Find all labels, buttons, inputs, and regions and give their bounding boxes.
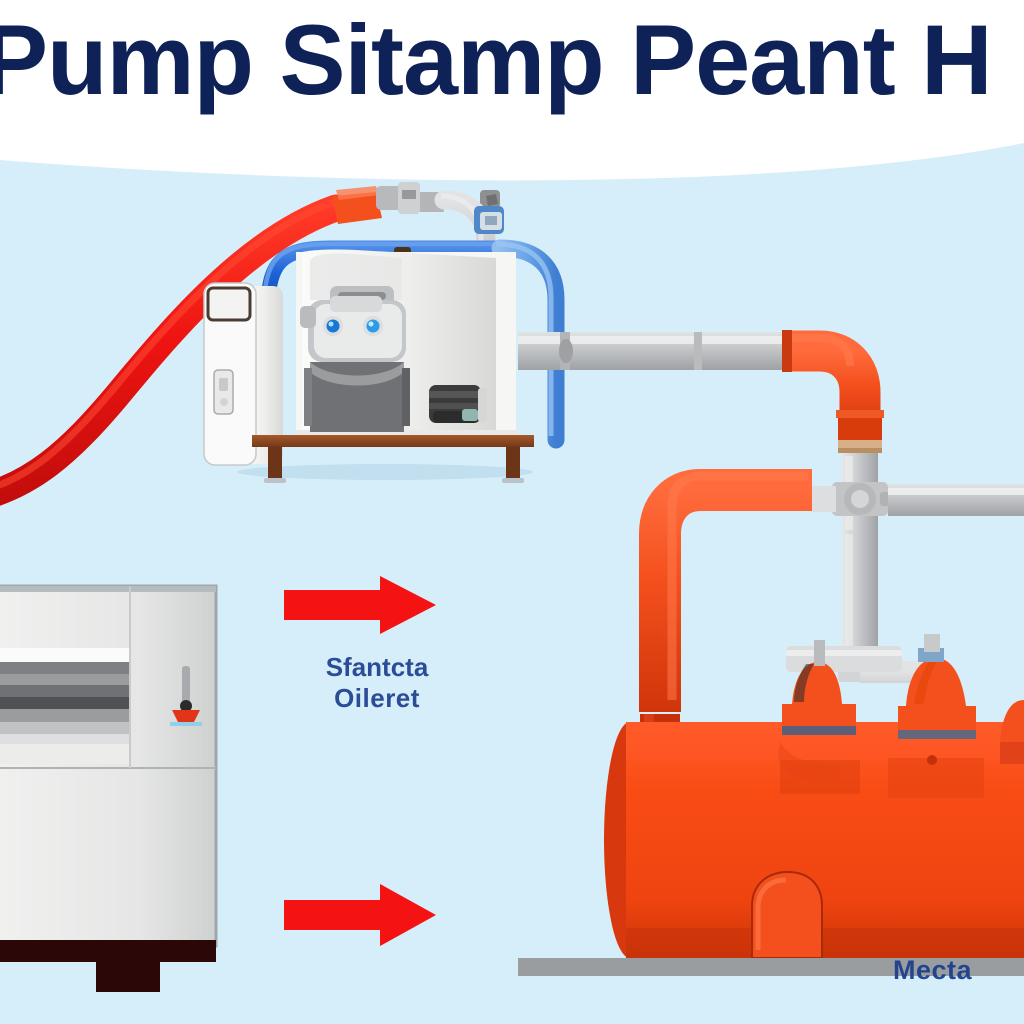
gray-branch-right — [888, 484, 1024, 516]
flow-arrow-top — [284, 576, 436, 634]
ground-line — [518, 958, 1024, 976]
pump-plant-illustration — [0, 0, 1024, 1024]
tank-manhole — [752, 872, 822, 958]
equipment-cabinet-left — [0, 586, 216, 992]
header-band — [0, 0, 1024, 180]
cabinet-base — [0, 940, 216, 962]
flow-arrow-bottom — [284, 884, 436, 946]
skid-gauge-block — [474, 206, 504, 234]
gray-manifold-pipe — [518, 332, 786, 370]
diagram-canvas: Pump Sitamp Peant H Sfantcta Oileret Mec… — [0, 0, 1024, 1024]
orange-pressure-tank — [604, 722, 1024, 958]
cabinet-louvers — [0, 662, 130, 744]
auxiliary-motor-unit — [429, 385, 487, 423]
pump-head-assembly — [300, 286, 410, 432]
cabinet-foot — [96, 962, 160, 992]
